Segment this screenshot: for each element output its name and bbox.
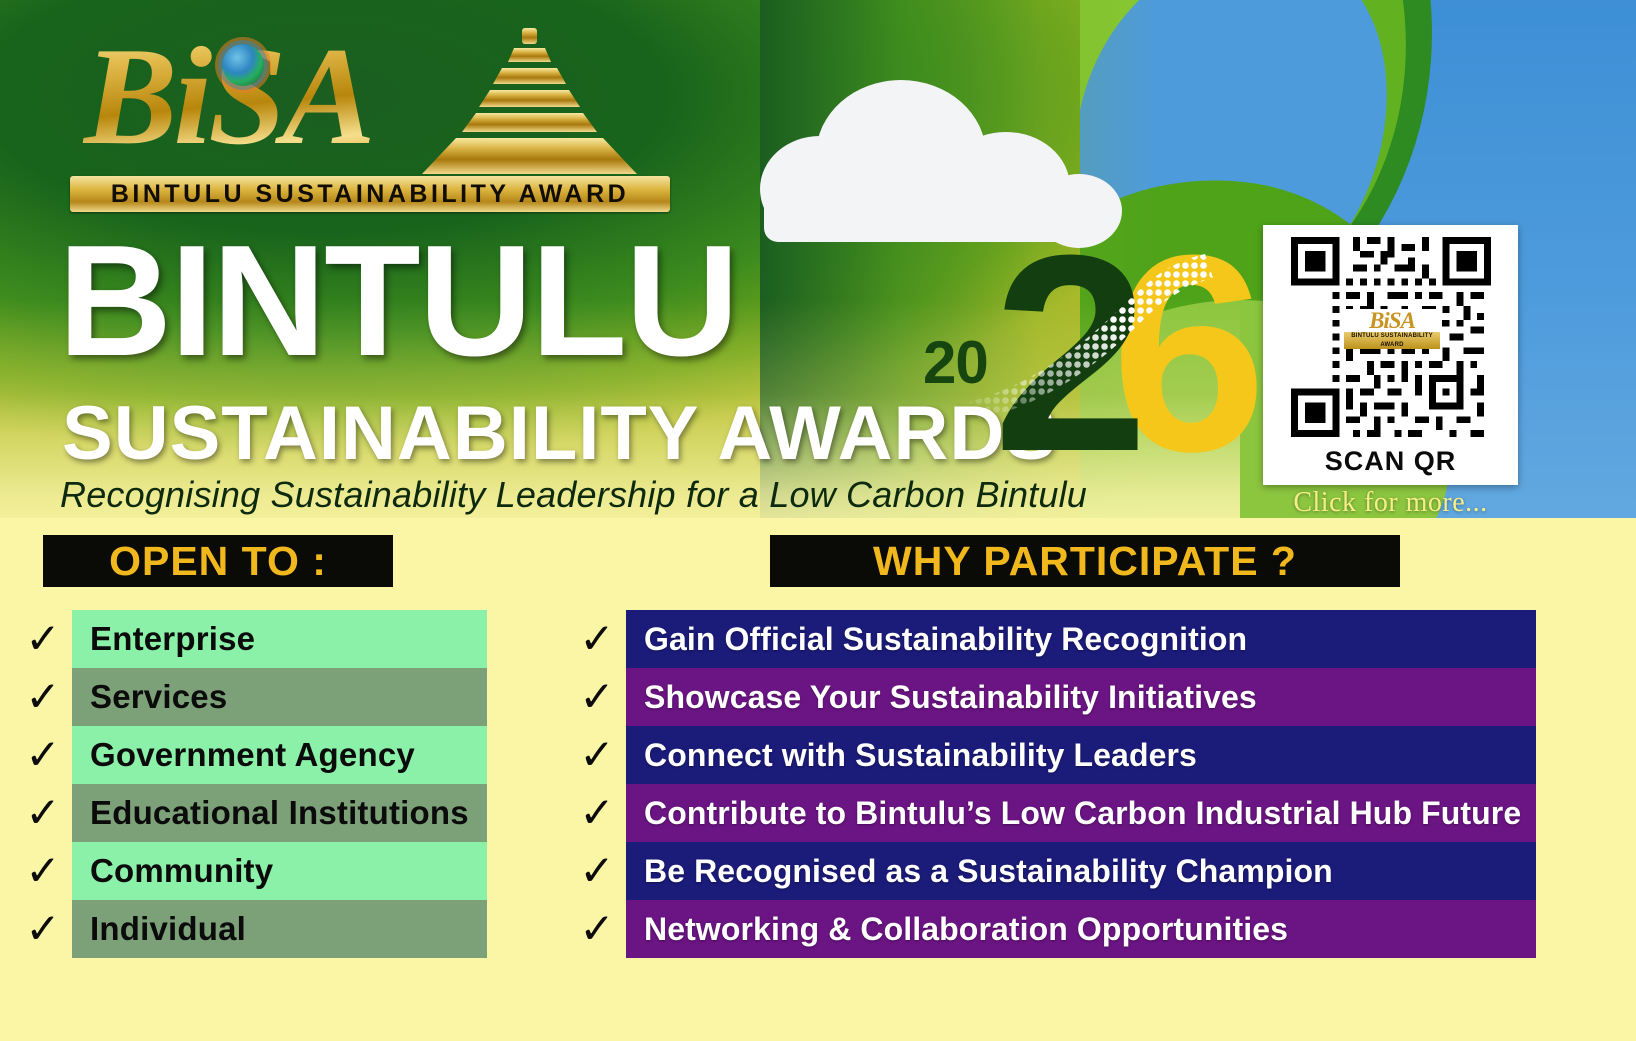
- logo-tagline-text: BINTULU SUSTAINABILITY AWARD: [111, 180, 629, 209]
- why-participate-item-label: Networking & Collaboration Opportunities: [644, 911, 1288, 948]
- why-participate-item-pill: Gain Official Sustainability Recognition: [626, 610, 1536, 668]
- qr-code-card[interactable]: BiSA BINTULU SUSTAINABILITY AWARD SCAN Q…: [1263, 225, 1518, 485]
- check-icon: ✓: [568, 668, 626, 726]
- check-icon: ✓: [14, 668, 72, 726]
- why-participate-list: ✓Gain Official Sustainability Recognitio…: [568, 610, 1518, 958]
- qr-embedded-logo: BiSA BINTULU SUSTAINABILITY AWARD: [1342, 309, 1442, 349]
- year-badge: 6 2 20: [915, 232, 1225, 482]
- open-to-item-label: Enterprise: [90, 620, 255, 658]
- check-icon: ✓: [568, 726, 626, 784]
- why-participate-item-label: Showcase Your Sustainability Initiatives: [644, 679, 1257, 716]
- check-icon: ✓: [568, 610, 626, 668]
- bisa-logo[interactable]: BiSA: [70, 22, 670, 212]
- check-icon: ✓: [568, 784, 626, 842]
- why-participate-item-pill: Be Recognised as a Sustainability Champi…: [626, 842, 1536, 900]
- open-to-item-row: ✓Enterprise: [14, 610, 469, 668]
- why-participate-item-label: Connect with Sustainability Leaders: [644, 737, 1197, 774]
- why-participate-header: WHY PARTICIPATE ?: [770, 535, 1400, 587]
- globe-icon: [222, 44, 264, 86]
- open-to-item-label: Government Agency: [90, 736, 415, 774]
- open-to-item-pill: Educational Institutions: [72, 784, 487, 842]
- open-to-item-row: ✓Government Agency: [14, 726, 469, 784]
- poster-canvas: BiSA: [0, 0, 1636, 1041]
- open-to-item-pill: Services: [72, 668, 487, 726]
- open-to-item-label: Services: [90, 678, 227, 716]
- check-icon: ✓: [14, 784, 72, 842]
- logo-tagline-bar: BINTULU SUSTAINABILITY AWARD: [70, 176, 670, 212]
- check-icon: ✓: [14, 726, 72, 784]
- why-participate-header-text: WHY PARTICIPATE ?: [873, 538, 1297, 585]
- open-to-item-row: ✓Individual: [14, 900, 469, 958]
- why-participate-item-label: Contribute to Bintulu’s Low Carbon Indus…: [644, 795, 1521, 832]
- why-participate-item-row: ✓Connect with Sustainability Leaders: [568, 726, 1518, 784]
- year-digit-two: 2: [993, 214, 1149, 494]
- why-participate-item-row: ✓Showcase Your Sustainability Initiative…: [568, 668, 1518, 726]
- why-participate-item-label: Gain Official Sustainability Recognition: [644, 621, 1247, 658]
- open-to-item-label: Individual: [90, 910, 246, 948]
- open-to-item-row: ✓Educational Institutions: [14, 784, 469, 842]
- poster-subheadline: SUSTAINABILITY AWARDS: [62, 396, 1057, 472]
- why-participate-item-row: ✓Gain Official Sustainability Recognitio…: [568, 610, 1518, 668]
- check-icon: ✓: [568, 900, 626, 958]
- open-to-header: OPEN TO :: [43, 535, 393, 587]
- open-to-item-pill: Government Agency: [72, 726, 487, 784]
- open-to-header-text: OPEN TO :: [109, 538, 327, 585]
- why-participate-item-row: ✓Be Recognised as a Sustainability Champ…: [568, 842, 1518, 900]
- open-to-item-pill: Community: [72, 842, 487, 900]
- open-to-item-label: Educational Institutions: [90, 794, 469, 832]
- why-participate-item-pill: Contribute to Bintulu’s Low Carbon Indus…: [626, 784, 1536, 842]
- open-to-item-row: ✓Services: [14, 668, 469, 726]
- why-participate-item-pill: Connect with Sustainability Leaders: [626, 726, 1536, 784]
- why-participate-item-pill: Showcase Your Sustainability Initiatives: [626, 668, 1536, 726]
- qr-embedded-logo-bar: BINTULU SUSTAINABILITY AWARD: [1344, 332, 1440, 350]
- qr-embedded-logo-text: BiSA: [1369, 309, 1415, 332]
- scan-qr-label: SCAN QR: [1263, 446, 1518, 477]
- why-participate-item-pill: Networking & Collaboration Opportunities: [626, 900, 1536, 958]
- why-participate-item-row: ✓Contribute to Bintulu’s Low Carbon Indu…: [568, 784, 1518, 842]
- check-icon: ✓: [568, 842, 626, 900]
- why-participate-item-label: Be Recognised as a Sustainability Champi…: [644, 853, 1333, 890]
- check-icon: ✓: [14, 610, 72, 668]
- tower-icon: [422, 28, 637, 174]
- poster-headline: BINTULU: [58, 222, 737, 380]
- year-prefix: 20: [923, 328, 988, 397]
- open-to-list: ✓Enterprise✓Services✓Government Agency✓E…: [14, 610, 469, 958]
- check-icon: ✓: [14, 900, 72, 958]
- check-icon: ✓: [14, 842, 72, 900]
- open-to-item-pill: Enterprise: [72, 610, 487, 668]
- why-participate-item-row: ✓Networking & Collaboration Opportunitie…: [568, 900, 1518, 958]
- click-for-more-link[interactable]: Click for more...: [1263, 487, 1518, 519]
- open-to-item-row: ✓Community: [14, 842, 469, 900]
- open-to-item-label: Community: [90, 852, 273, 890]
- open-to-item-pill: Individual: [72, 900, 487, 958]
